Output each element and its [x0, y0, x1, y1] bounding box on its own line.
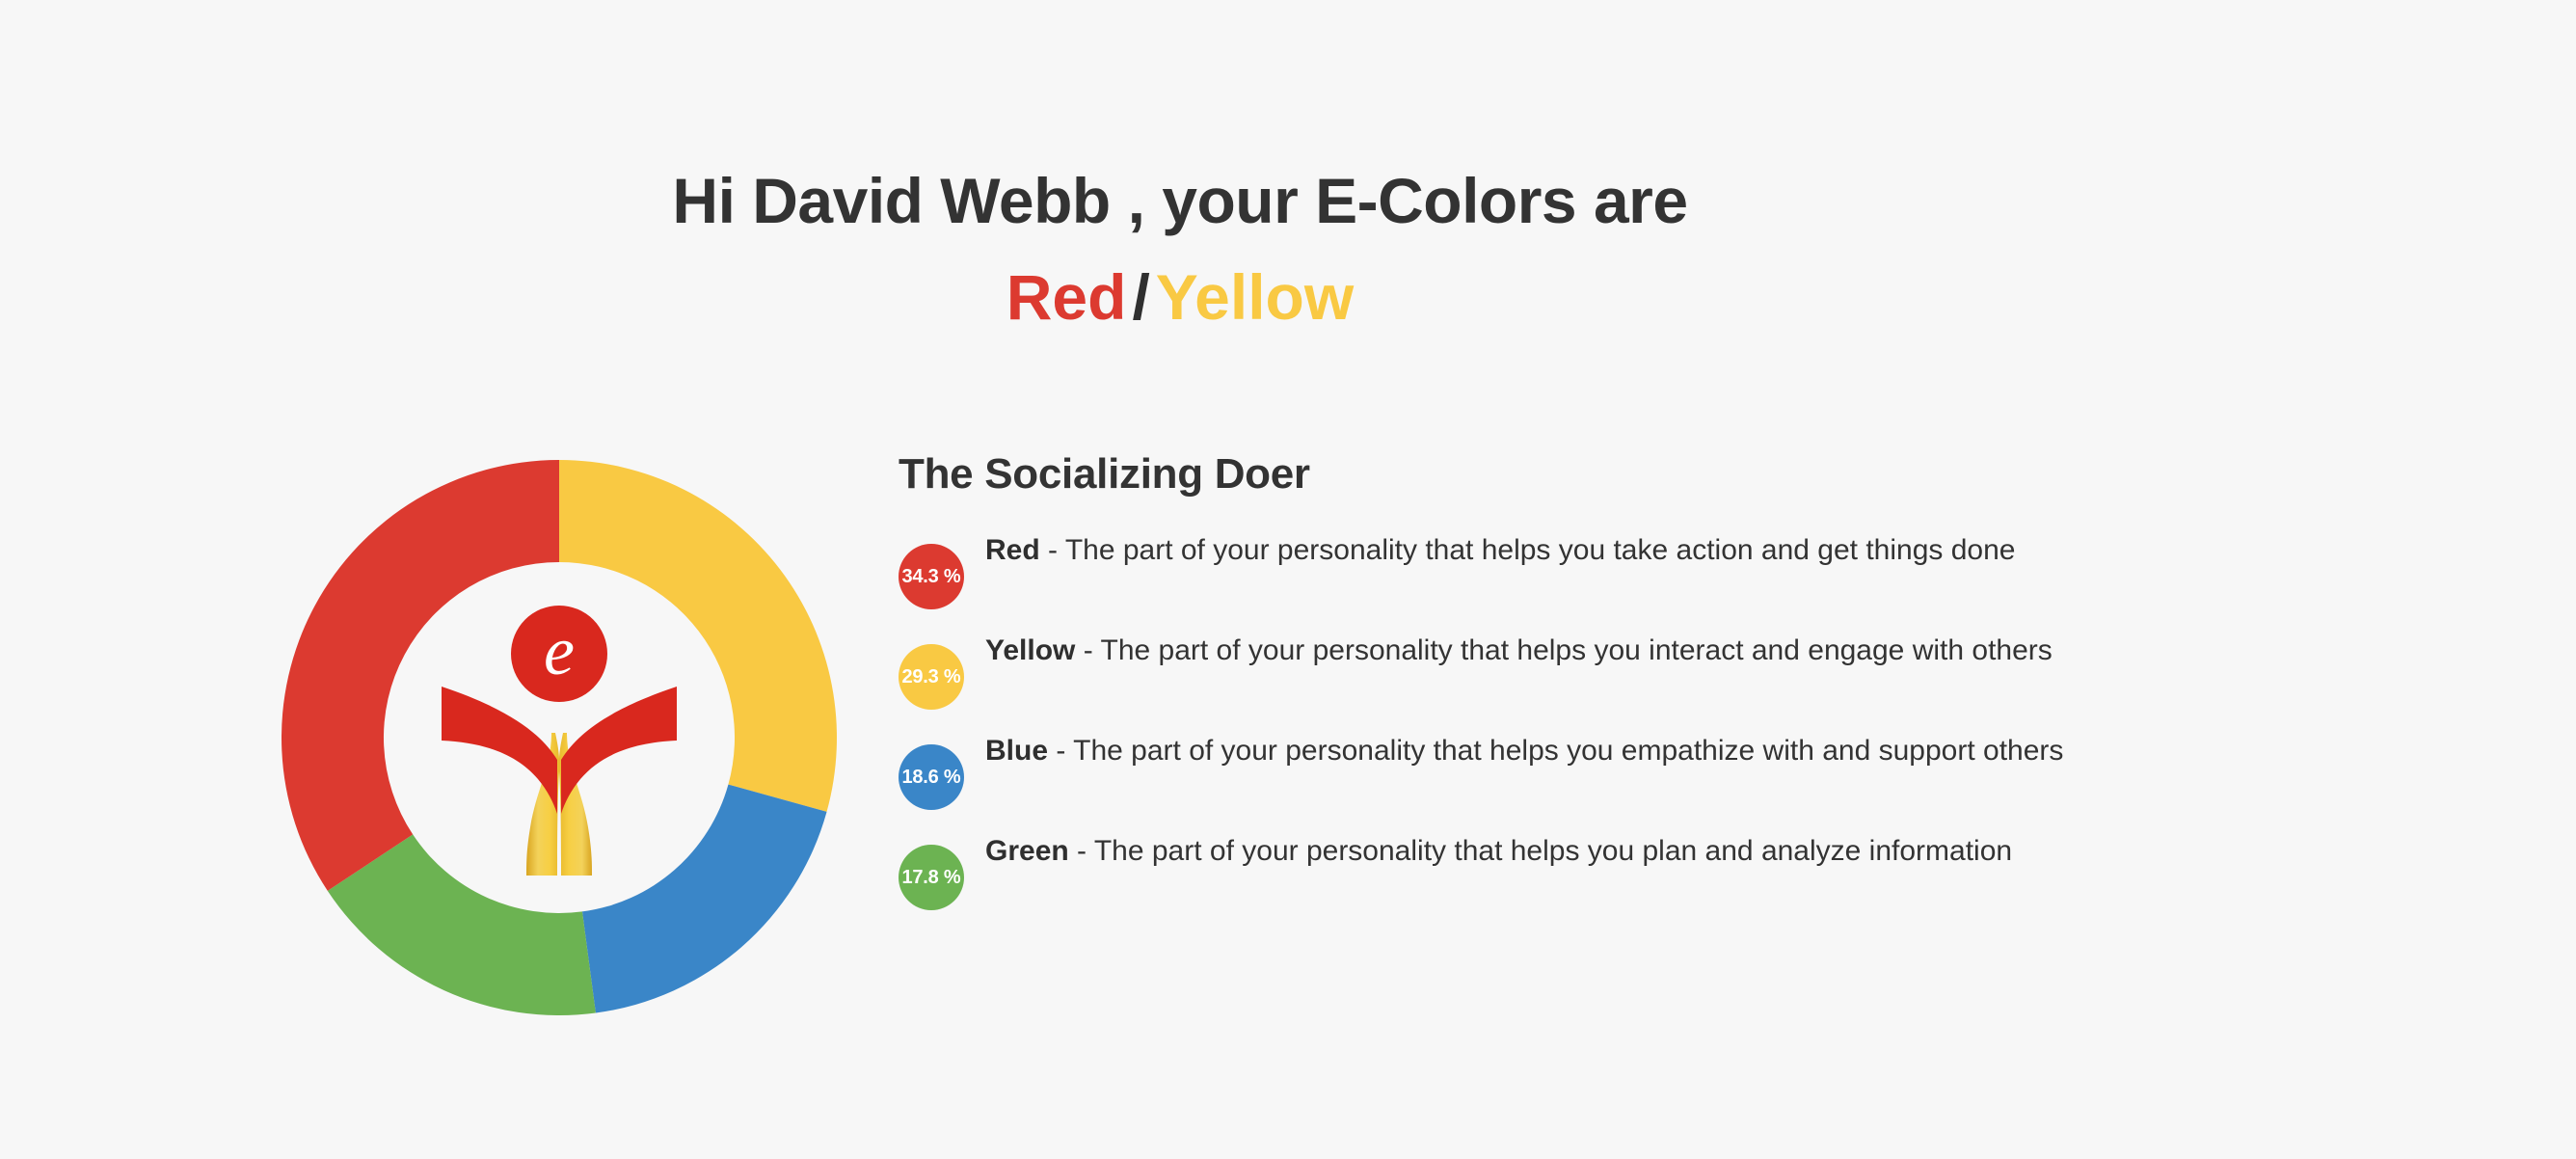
trait-description-text: The part of your personality that helps …	[1094, 835, 2012, 867]
trait-row: 29.3 %Yellow - The part of your personal…	[899, 631, 2152, 710]
trait-separator: -	[1069, 835, 1094, 867]
donut-segments	[282, 460, 837, 1015]
trait-description-text: The part of your personality that helps …	[1101, 634, 2053, 666]
ecolors-pair-heading: Red/Yellow	[0, 262, 2360, 333]
trait-name: Yellow	[985, 634, 1075, 666]
ecolors-result-page: Hi David Webb , your E-Colors are Red/Ye…	[0, 0, 2576, 1159]
trait-description-text: The part of your personality that helps …	[1065, 534, 2016, 566]
trait-separator: -	[1075, 634, 1100, 666]
donut-segment-red[interactable]	[282, 460, 559, 891]
percent-badge-red: 34.3 %	[899, 544, 964, 609]
donut-svg	[282, 460, 837, 1015]
persona-title: The Socializing Doer	[899, 451, 2152, 498]
ecolors-donut-chart: e	[282, 460, 837, 1015]
percent-badge-green: 17.8 %	[899, 845, 964, 910]
trait-description: Green - The part of your personality tha…	[985, 831, 2065, 873]
percent-badge-yellow: 29.3 %	[899, 644, 964, 710]
trait-description: Blue - The part of your personality that…	[985, 731, 2065, 772]
trait-description-text: The part of your personality that helps …	[1073, 735, 2063, 767]
trait-description: Red - The part of your personality that …	[985, 530, 2065, 572]
trait-row: 18.6 %Blue - The part of your personalit…	[899, 731, 2152, 810]
primary-color-label: Red	[1006, 261, 1127, 333]
donut-segment-blue[interactable]	[582, 785, 827, 1013]
trait-list: 34.3 %Red - The part of your personality…	[899, 530, 2152, 910]
trait-name: Red	[985, 534, 1040, 566]
color-separator: /	[1126, 261, 1155, 333]
secondary-color-label: Yellow	[1156, 261, 1354, 333]
percent-badge-blue: 18.6 %	[899, 744, 964, 810]
donut-segment-yellow[interactable]	[559, 460, 837, 812]
trait-description: Yellow - The part of your personality th…	[985, 631, 2065, 672]
trait-separator: -	[1040, 534, 1065, 566]
page-title: Hi David Webb , your E-Colors are	[0, 166, 2360, 236]
trait-name: Blue	[985, 735, 1048, 767]
trait-row: 17.8 %Green - The part of your personali…	[899, 831, 2152, 910]
trait-row: 34.3 %Red - The part of your personality…	[899, 530, 2152, 609]
trait-name: Green	[985, 835, 1069, 867]
trait-separator: -	[1048, 735, 1073, 767]
ecolors-detail-panel: The Socializing Doer 34.3 %Red - The par…	[899, 451, 2152, 910]
